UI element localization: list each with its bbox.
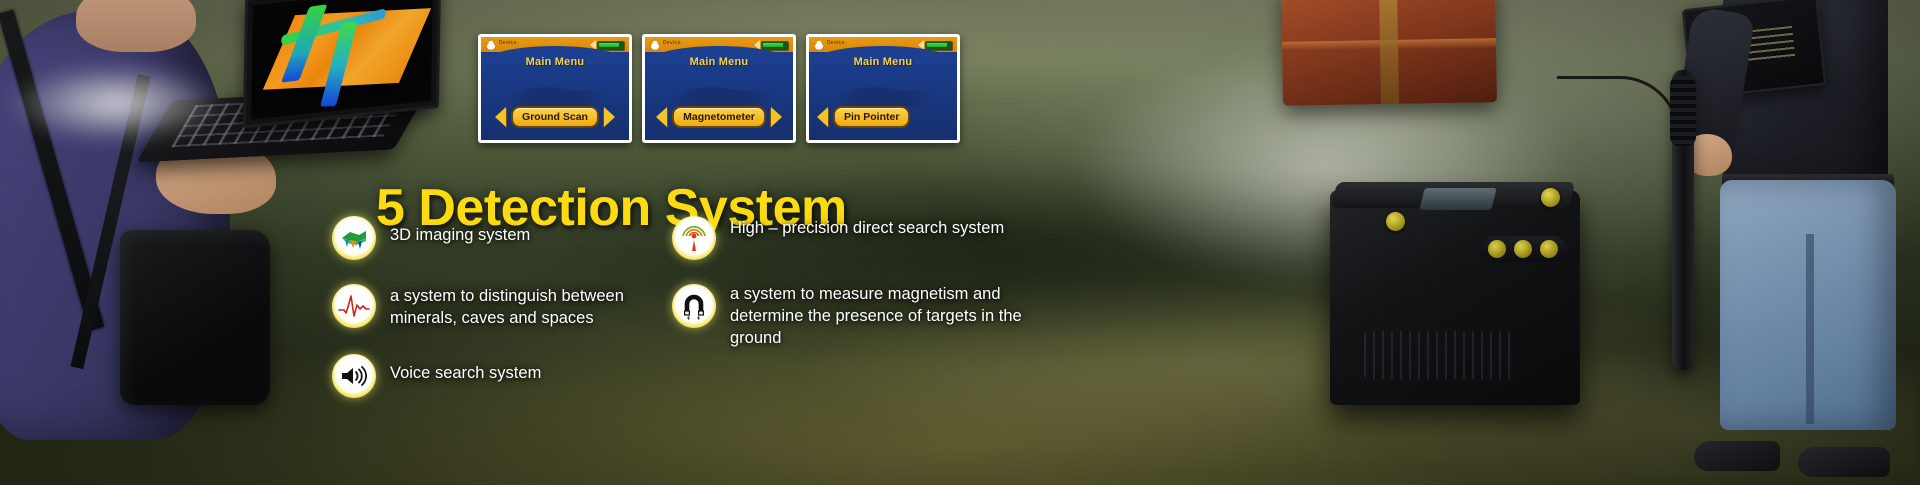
- 3d-terrain-icon: [332, 216, 376, 260]
- feature-label: Voice search system: [390, 354, 541, 385]
- ground-scanner-unit: [1330, 190, 1580, 405]
- chevron-right-icon[interactable]: [771, 107, 782, 127]
- device-mode-button[interactable]: Ground Scan: [511, 106, 599, 128]
- waveform-pulse-icon: [332, 284, 376, 328]
- device-menu-title: Main Menu: [481, 56, 629, 68]
- feature-item: a system to measure magnetism and determ…: [672, 284, 1022, 349]
- device-brand-label: Device: [663, 40, 681, 46]
- feature-label: 3D imaging system: [390, 216, 530, 247]
- promo-banner: Device Main Menu Ground Scan Device: [0, 0, 1920, 485]
- operator-shoe: [1798, 447, 1890, 477]
- probe-grip: [1670, 76, 1696, 146]
- magnet-icon: [672, 284, 716, 328]
- probe-cable: [1557, 76, 1680, 139]
- signal-target-icon: [672, 216, 716, 260]
- feature-item: Voice search system: [332, 354, 662, 398]
- scanner-knob: [1386, 212, 1405, 231]
- operator-with-probe: [1600, 0, 1920, 485]
- scanner-knob: [1541, 188, 1560, 207]
- laptop-screen: [251, 0, 433, 120]
- scanner-control-bar: [1482, 236, 1566, 262]
- chevron-left-icon[interactable]: [817, 107, 828, 127]
- device-menu-title: Main Menu: [809, 56, 957, 68]
- laptop-lid: [243, 0, 441, 128]
- feature-label: a system to measure magnetism and determ…: [730, 284, 1022, 349]
- operator-leg-split: [1806, 234, 1814, 424]
- chevron-left-icon[interactable]: [656, 107, 667, 127]
- device-screen-magnetometer[interactable]: Device Main Menu Magnetometer: [642, 34, 796, 143]
- scanner-grille: [1364, 331, 1514, 379]
- device-mode-button[interactable]: Pin Pointer: [833, 106, 910, 128]
- operator-shoe: [1694, 441, 1780, 471]
- device-screens: Device Main Menu Ground Scan Device: [478, 34, 960, 143]
- feature-label: a system to distinguish between minerals…: [390, 284, 662, 330]
- chevron-left-icon[interactable]: [495, 107, 506, 127]
- device-brand-label: Device: [827, 40, 845, 46]
- device-screen-pin-pointer[interactable]: Device Main Menu Pin Pointer: [806, 34, 960, 143]
- scanner-knob: [1514, 240, 1532, 258]
- feature-label: High – precision direct search system: [730, 216, 1004, 240]
- scanner-knob: [1488, 240, 1506, 258]
- feature-item: High – precision direct search system: [672, 216, 1022, 260]
- device-brand-label: Device: [499, 40, 517, 46]
- chest-mist: [0, 48, 266, 158]
- feature-item: a system to distinguish between minerals…: [332, 284, 662, 330]
- feature-column-right: High – precision direct search system a …: [672, 216, 1022, 373]
- chevron-right-icon[interactable]: [604, 107, 615, 127]
- treasure-chest: [1281, 0, 1497, 106]
- feature-item: 3D imaging system: [332, 216, 662, 260]
- operator-bag: [120, 230, 270, 405]
- chest-lock: [1379, 0, 1399, 104]
- speaker-icon: [332, 354, 376, 398]
- device-mode-button[interactable]: Magnetometer: [672, 106, 766, 128]
- feature-column-left: 3D imaging system a system to distinguis…: [332, 216, 662, 422]
- scanner-display: [1419, 188, 1496, 210]
- device-screen-ground-scan[interactable]: Device Main Menu Ground Scan: [478, 34, 632, 143]
- device-menu-title: Main Menu: [645, 56, 793, 68]
- scanner-knob: [1540, 240, 1558, 258]
